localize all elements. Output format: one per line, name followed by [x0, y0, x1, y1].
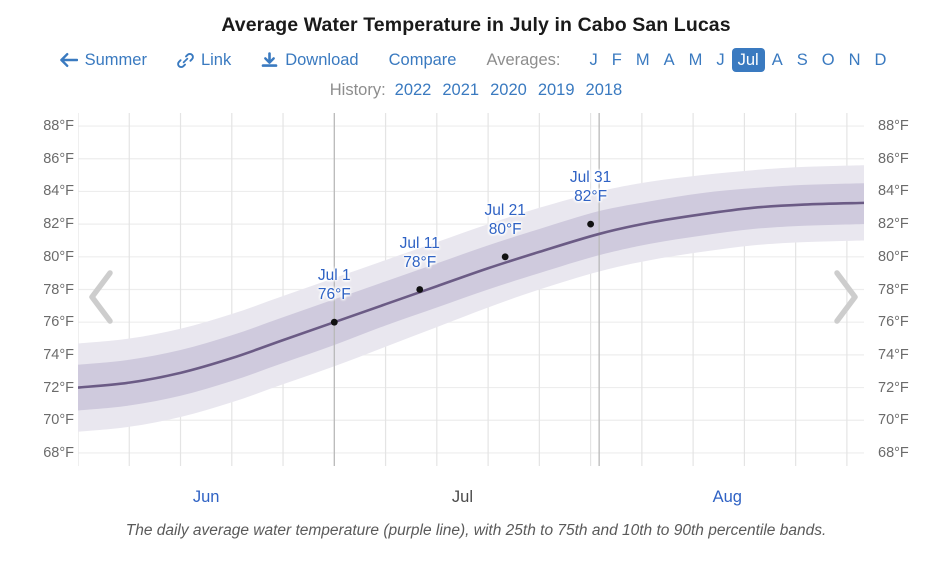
- y-tick-right-78: 78°F: [878, 282, 948, 298]
- y-tick-left-86: 86°F: [4, 151, 74, 167]
- download-button[interactable]: Download: [261, 51, 358, 70]
- history-year-2021[interactable]: 2021: [442, 81, 479, 100]
- annotation-value: 76°F: [318, 285, 351, 304]
- page-title: Average Water Temperature in July in Cab…: [0, 14, 952, 37]
- x-axis-label-jul: Jul: [452, 488, 473, 507]
- annotation-jul-1: Jul 176°F: [318, 266, 351, 304]
- averages-label: Averages:: [486, 51, 560, 70]
- data-point-marker[interactable]: [587, 221, 594, 228]
- month-button-4[interactable]: M: [682, 49, 710, 71]
- annotation-date: Jul 31: [570, 168, 611, 187]
- y-tick-right-80: 80°F: [878, 249, 948, 265]
- previous-period-button[interactable]: [85, 268, 119, 326]
- chart-toolbar: Summer Link Download: [0, 46, 952, 74]
- link-label: Link: [201, 51, 231, 70]
- annotation-value: 78°F: [400, 253, 440, 272]
- y-tick-right-88: 88°F: [878, 118, 948, 134]
- y-tick-right-70: 70°F: [878, 412, 948, 428]
- x-axis-label-jun[interactable]: Jun: [193, 488, 220, 507]
- month-button-8[interactable]: S: [790, 49, 815, 71]
- chart-plot-area: [78, 113, 864, 466]
- month-button-5[interactable]: J: [709, 49, 731, 71]
- annotation-jul-31: Jul 3182°F: [570, 168, 611, 206]
- y-tick-left-74: 74°F: [4, 347, 74, 363]
- compare-label: Compare: [389, 51, 457, 70]
- y-tick-left-82: 82°F: [4, 216, 74, 232]
- month-button-11[interactable]: D: [867, 49, 893, 71]
- history-year-2022[interactable]: 2022: [395, 81, 432, 100]
- month-button-2[interactable]: M: [629, 49, 657, 71]
- y-tick-right-74: 74°F: [878, 347, 948, 363]
- y-tick-left-76: 76°F: [4, 314, 74, 330]
- link-button[interactable]: Link: [177, 51, 231, 70]
- annotation-jul-21: Jul 2180°F: [484, 201, 525, 239]
- temperature-chart-svg: [78, 113, 864, 466]
- chart-page: Average Water Temperature in July in Cab…: [0, 0, 952, 567]
- link-icon: [177, 52, 194, 69]
- y-tick-left-88: 88°F: [4, 118, 74, 134]
- y-tick-right-86: 86°F: [878, 151, 948, 167]
- chart-caption: The daily average water temperature (pur…: [0, 522, 952, 540]
- annotation-jul-11: Jul 1178°F: [400, 234, 440, 272]
- download-label: Download: [285, 51, 358, 70]
- month-button-9[interactable]: O: [815, 49, 842, 71]
- data-point-marker[interactable]: [331, 319, 338, 326]
- arrow-left-icon: [59, 52, 78, 68]
- y-axis-right: 88°F86°F84°F82°F80°F78°F76°F74°F72°F70°F…: [878, 113, 948, 466]
- y-tick-left-68: 68°F: [4, 445, 74, 461]
- y-tick-left-78: 78°F: [4, 282, 74, 298]
- y-axis-left: 88°F86°F84°F82°F80°F78°F76°F74°F72°F70°F…: [4, 113, 74, 466]
- y-tick-right-72: 72°F: [878, 380, 948, 396]
- y-tick-right-76: 76°F: [878, 314, 948, 330]
- averages-month-selector: JFMAMJJulASOND: [582, 48, 893, 72]
- annotation-date: Jul 1: [318, 266, 351, 285]
- month-button-3[interactable]: A: [657, 49, 682, 71]
- history-year-2019[interactable]: 2019: [538, 81, 575, 100]
- y-tick-left-70: 70°F: [4, 412, 74, 428]
- y-tick-left-84: 84°F: [4, 183, 74, 199]
- download-icon: [261, 52, 278, 69]
- month-button-6[interactable]: Jul: [732, 48, 765, 72]
- back-to-summer-label: Summer: [85, 51, 147, 70]
- y-tick-left-72: 72°F: [4, 380, 74, 396]
- month-button-7[interactable]: A: [765, 49, 790, 71]
- history-year-2020[interactable]: 2020: [490, 81, 527, 100]
- annotation-value: 80°F: [484, 220, 525, 239]
- month-button-10[interactable]: N: [842, 49, 868, 71]
- annotation-date: Jul 11: [400, 234, 440, 253]
- history-row: History: 20222021202020192018: [0, 78, 952, 102]
- data-point-marker[interactable]: [502, 253, 509, 260]
- y-tick-left-80: 80°F: [4, 249, 74, 265]
- annotation-date: Jul 21: [484, 201, 525, 220]
- annotation-value: 82°F: [570, 187, 611, 206]
- y-tick-right-84: 84°F: [878, 183, 948, 199]
- month-button-0[interactable]: J: [582, 49, 604, 71]
- back-to-summer-button[interactable]: Summer: [59, 51, 147, 70]
- x-axis-label-aug[interactable]: Aug: [713, 488, 742, 507]
- next-period-button[interactable]: [828, 268, 862, 326]
- y-tick-right-68: 68°F: [878, 445, 948, 461]
- data-point-marker[interactable]: [416, 286, 423, 293]
- compare-button[interactable]: Compare: [389, 51, 457, 70]
- history-year-list: 20222021202020192018: [395, 81, 623, 100]
- y-tick-right-82: 82°F: [878, 216, 948, 232]
- history-year-2018[interactable]: 2018: [586, 81, 623, 100]
- month-button-1[interactable]: F: [605, 49, 629, 71]
- history-label: History:: [330, 81, 386, 100]
